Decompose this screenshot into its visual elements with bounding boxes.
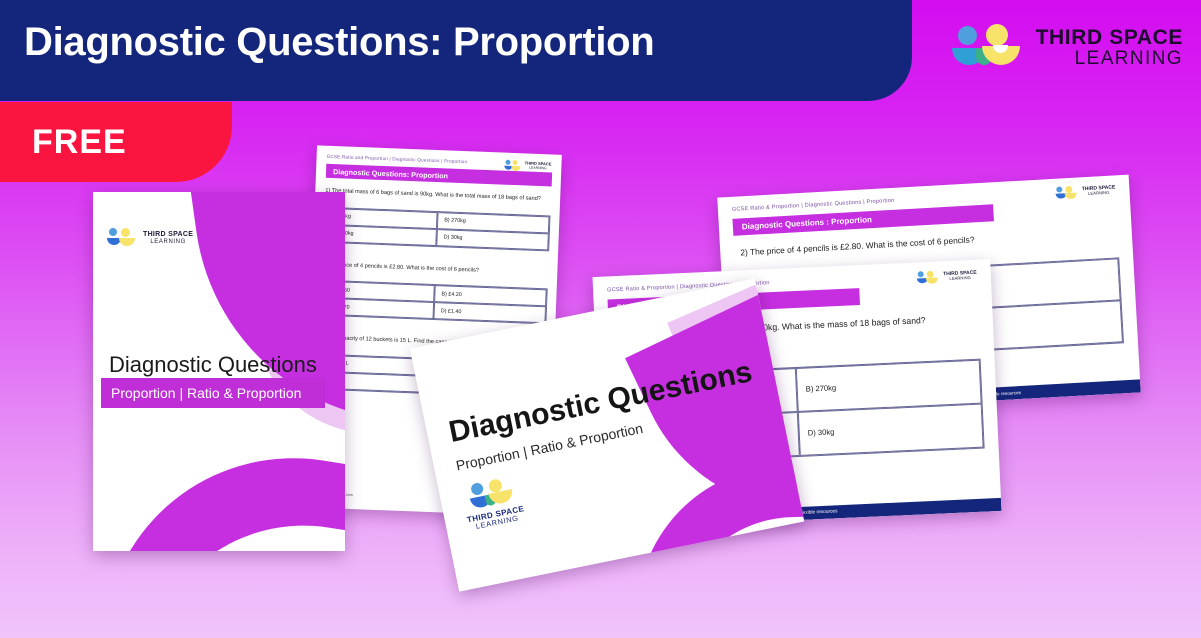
option-d[interactable]: D) 30kg (798, 404, 984, 456)
page-title: Diagnostic Questions: Proportion (24, 20, 864, 65)
brand-line-1: THIRD SPACE (143, 231, 193, 239)
option-d[interactable]: D) 30kg (436, 229, 549, 250)
logo-mark-icon (917, 270, 940, 285)
logo-mark-icon (107, 228, 137, 248)
cover-subtitle: Proportion | Ratio & Proportion (111, 385, 301, 401)
brand-line-2: LEARNING (943, 276, 977, 282)
free-badge-label: FREE (32, 123, 127, 162)
logo-mark-icon (504, 160, 521, 172)
cover-title: Diagnostic Questions (109, 352, 317, 378)
third-space-learning-logo: THIRD SPACE LEARNING (917, 269, 977, 286)
promo-banner: Diagnostic Questions: Proportion THIRD S… (0, 0, 1201, 638)
header-bar: Diagnostic Questions: Proportion (0, 0, 912, 101)
worksheet-band-label: Diagnostic Questions : Proportion (742, 215, 873, 231)
brand-line-2: LEARNING (1082, 191, 1116, 197)
cover-card: THIRD SPACE LEARNING Diagnostic Question… (93, 192, 345, 551)
brand-line-2: LEARNING (1036, 49, 1183, 69)
logo-mark-icon (952, 24, 1024, 72)
brand-line-2: LEARNING (524, 166, 551, 171)
cover-subtitle-band: Proportion | Ratio & Proportion (101, 378, 325, 408)
third-space-learning-logo: THIRD SPACE LEARNING (504, 160, 551, 173)
worksheet-band-label: Diagnostic Questions: Proportion (333, 167, 448, 180)
free-badge: FREE (0, 102, 232, 182)
brand-line-1: THIRD SPACE (1036, 27, 1183, 49)
third-space-learning-logo: THIRD SPACE LEARNING (107, 228, 193, 248)
third-space-learning-logo: THIRD SPACE LEARNING (460, 475, 526, 533)
question-1-text: 1) The total mass of 6 bags of sand is 9… (325, 187, 551, 204)
brand-line-2: LEARNING (143, 239, 193, 246)
question-2-options: A) £3.50 B) £4.20 C) £0.70 D) £1.40 (320, 280, 547, 325)
question-2-text: 2) The price of 4 pencils is £2.80. What… (322, 260, 548, 277)
option-d[interactable]: D) £1.40 (433, 302, 546, 323)
third-space-learning-logo: THIRD SPACE LEARNING (952, 24, 1183, 72)
logo-mark-icon (1056, 186, 1079, 201)
question-1-options: A) 15kg B) 270kg C) 180kg D) 30kg (323, 206, 550, 251)
